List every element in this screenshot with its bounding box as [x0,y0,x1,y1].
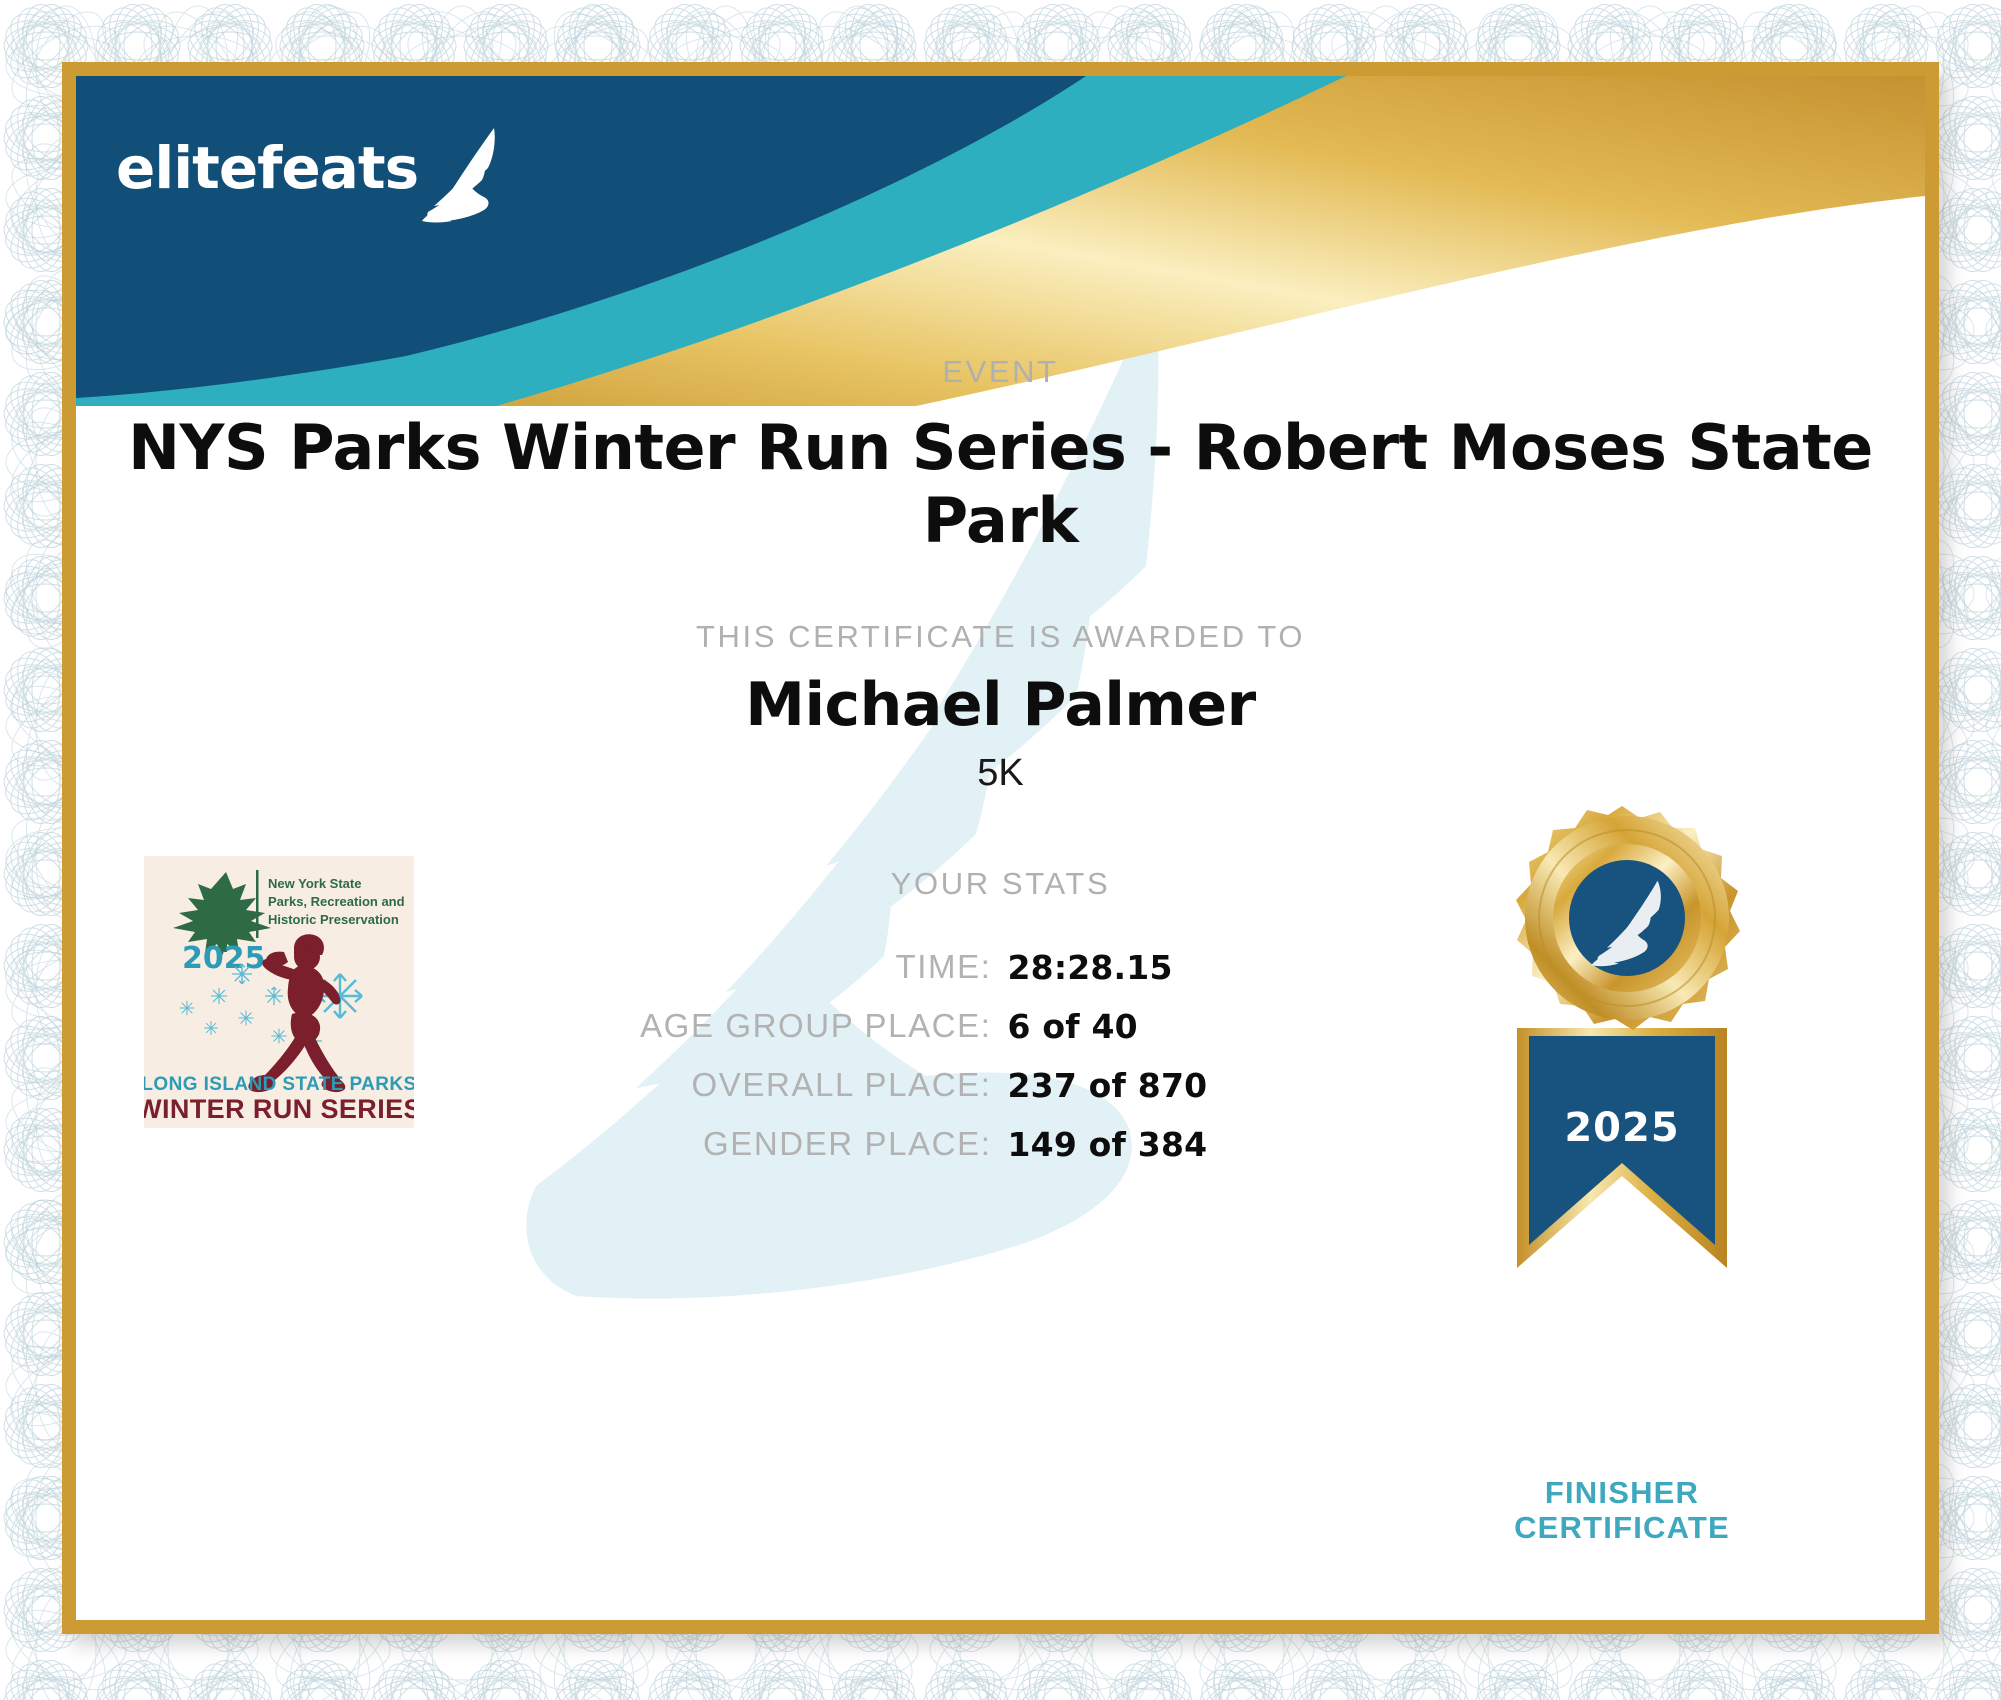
event-title: NYS Parks Winter Run Series - Robert Mos… [76,411,1925,557]
series-line-2: WINTER RUN SERIES [144,1094,414,1124]
medal-caption: FINISHER CERTIFICATE [1472,1476,1772,1545]
agency-line-2: Parks, Recreation and [268,894,405,909]
recipient-name: Michael Palmer [76,670,1925,740]
event-label: EVENT [76,354,1925,390]
stat-value-time: 28:28.15 [1008,948,1926,987]
stat-value-gender-place: 149 of 384 [1008,1125,1926,1164]
logo-year: 2025 [182,941,266,976]
awarded-to-label: THIS CERTIFICATE IS AWARDED TO [76,619,1925,655]
certificate-body: elitefeats EVENT NYS Parks Winter Run Se… [76,76,1925,1620]
finisher-medal: 2025 [1472,798,1772,1358]
stat-value-overall-place: 237 of 870 [1008,1066,1926,1105]
winged-foot-icon [408,120,518,230]
certificate-gold-frame: elitefeats EVENT NYS Parks Winter Run Se… [62,62,1939,1634]
medal-caption-line-1: FINISHER [1472,1476,1772,1511]
agency-line-1: New York State [268,876,361,891]
stat-label-gender-place: GENDER PLACE: [76,1125,994,1164]
medal-rosette-icon [1516,806,1740,1030]
winter-run-series-logo: New York State Parks, Recreation and His… [144,856,414,1128]
stat-value-age-group-place: 6 of 40 [1008,1007,1926,1046]
agency-line-3: Historic Preservation [268,912,399,927]
certificate-content: EVENT NYS Parks Winter Run Series - Robe… [76,76,1925,1620]
brand-wordmark: elitefeats [116,134,418,202]
series-line-1: LONG ISLAND STATE PARKS [144,1074,414,1095]
elitefeats-logo: elitefeats [116,126,476,236]
race-distance: 5K [76,752,1925,795]
medal-caption-line-2: CERTIFICATE [1472,1511,1772,1546]
medal-year: 2025 [1564,1105,1679,1151]
